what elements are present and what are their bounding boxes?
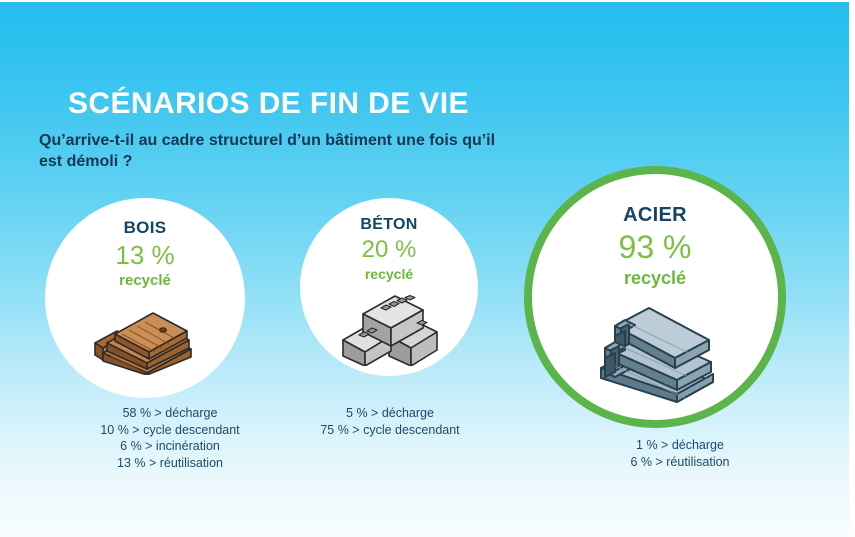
material-percent-beton: 20 % [300, 236, 478, 264]
breakdown-item: 10 % > cycle descendant [70, 422, 270, 439]
material-name-bois: BOIS [45, 218, 245, 238]
material-name-acier: ACIER [532, 204, 778, 227]
breakdown-item: 75 % > cycle descendant [300, 422, 480, 439]
material-circle-bois: BOIS 13 % recyclé [45, 198, 245, 398]
breakdown-item: 13 % > réutilisation [70, 455, 270, 472]
material-recycled-label-acier: recyclé [532, 268, 778, 289]
infographic-canvas: SCÉNARIOS DE FIN DE VIE Qu’arrive-t-il a… [0, 2, 849, 537]
material-circle-acier: ACIER 93 % recyclé [524, 166, 786, 428]
breakdown-item: 5 % > décharge [300, 405, 480, 422]
material-circle-beton: BÉTON 20 % recyclé [300, 198, 478, 376]
breakdown-item: 6 % > incinération [70, 438, 270, 455]
wood-planks-icon [45, 303, 245, 378]
material-name-beton: BÉTON [300, 216, 478, 234]
breakdown-list-beton: 5 % > décharge 75 % > cycle descendant [300, 405, 480, 438]
breakdown-list-bois: 58 % > décharge 10 % > cycle descendant … [70, 405, 270, 471]
material-percent-acier: 93 % [532, 229, 778, 266]
steel-beams-icon [532, 296, 778, 408]
material-recycled-label-bois: recyclé [45, 272, 245, 289]
concrete-blocks-icon [300, 294, 478, 366]
material-recycled-label-beton: recyclé [300, 266, 478, 282]
breakdown-item: 58 % > décharge [70, 405, 270, 422]
page-subtitle: Qu’arrive-t-il au cadre structurel d’un … [39, 130, 509, 172]
breakdown-list-acier: 1 % > décharge 6 % > réutilisation [580, 437, 780, 470]
page-title: SCÉNARIOS DE FIN DE VIE [68, 87, 469, 121]
material-percent-bois: 13 % [45, 240, 245, 271]
breakdown-item: 6 % > réutilisation [580, 454, 780, 471]
breakdown-item: 1 % > décharge [580, 437, 780, 454]
